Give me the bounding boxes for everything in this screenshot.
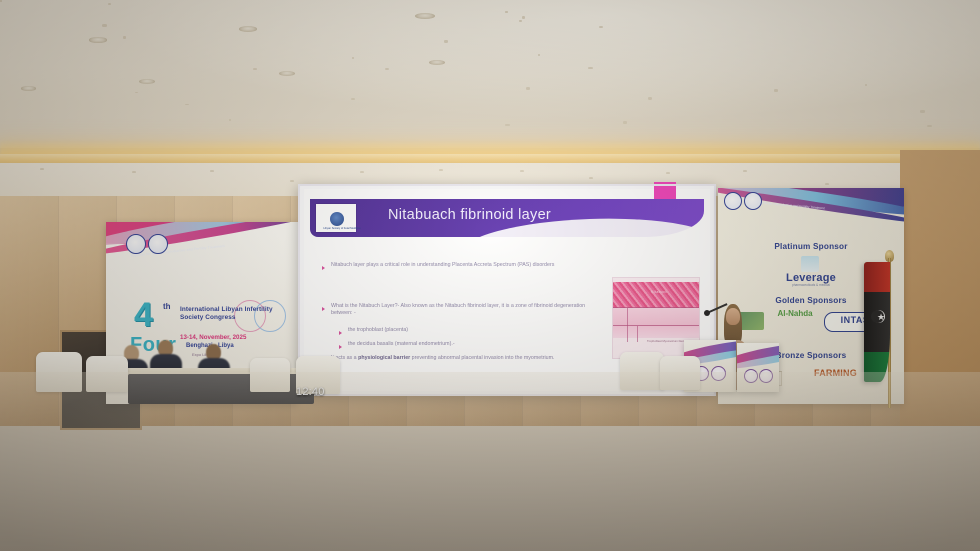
banner-edition-number: 4 — [134, 300, 153, 330]
society-emblem-icon — [744, 192, 762, 210]
society-emblem-icon — [724, 192, 742, 210]
slide-logo-box: Libyan Society of Fetal Medicine — [316, 204, 356, 232]
triangle-bullet-icon — [339, 331, 342, 335]
slide-bullet-3: the trophoblast (placenta) — [348, 327, 588, 334]
ceiling-speck — [505, 11, 508, 13]
podium-speaker-head — [726, 308, 740, 325]
soffit-light — [290, 180, 294, 182]
histology-lower-band — [613, 308, 699, 326]
soffit-light — [210, 170, 214, 172]
banner-congress-title: International Libyan Infertility Society… — [180, 306, 292, 322]
ceiling-speck — [505, 124, 510, 126]
ceiling-speck — [920, 110, 925, 112]
soffit-light — [439, 169, 443, 171]
slide-bullet-5: It acts as a physiological barrier preve… — [331, 355, 599, 362]
leverage-logo-mark — [801, 256, 819, 272]
flag-star-icon: ★ — [877, 313, 885, 322]
ceiling-vent — [239, 26, 257, 32]
histology-leader-line — [637, 326, 638, 342]
histology-leader-line — [627, 308, 628, 342]
slide-bullet-5-post: preventing abnormal placental invasion i… — [410, 355, 554, 361]
triangle-bullet-icon — [339, 345, 342, 349]
ceiling-vent — [21, 86, 36, 91]
sponsor-tier-platinum-heading: Platinum Sponsor — [718, 242, 904, 251]
slide-bullet-2: What is the Nitabuch Layer?- Also known … — [331, 303, 599, 317]
ceiling-speck — [351, 98, 355, 101]
timestamp-overlay: 12:40 — [296, 386, 325, 398]
ceiling-vent — [415, 13, 434, 19]
ceiling-speck — [538, 54, 540, 56]
ceiling-speck — [185, 104, 188, 106]
audience — [0, 372, 980, 551]
triangle-bullet-icon — [322, 307, 325, 311]
histology-divider — [613, 325, 699, 326]
banner-congress-date: 13-14, November, 2025 — [180, 334, 246, 341]
histology-labels: Trophoblast Myometrium Decidua — [647, 340, 689, 343]
slide-header: Libyan Society of Fetal Medicine Nitabua… — [310, 199, 704, 237]
flag-stripe-red — [864, 262, 890, 292]
triangle-bullet-icon — [322, 266, 325, 270]
ceiling-vent — [279, 71, 295, 76]
ceiling-speck — [352, 57, 354, 59]
microphone-head — [704, 310, 710, 316]
ceiling-speck — [526, 87, 530, 90]
ceiling-speck — [135, 92, 138, 94]
soffit-light — [743, 170, 747, 172]
libya-flag-icon: ★ — [864, 262, 890, 382]
society-emblem-icon — [148, 234, 168, 254]
soffit-light — [40, 168, 44, 170]
society-emblem-icon — [126, 234, 146, 254]
ceiling-speck — [123, 36, 125, 39]
ceiling-speck — [648, 97, 652, 100]
histology-divider — [613, 307, 699, 308]
ceiling-speck — [774, 89, 778, 92]
ceiling-speck — [519, 20, 522, 22]
golden-sponsor-logo-2: Al-Nahda — [774, 310, 816, 318]
histology-caption: Nitabuch — [651, 290, 668, 294]
audience-lighting — [0, 372, 980, 551]
ceiling-speck — [253, 68, 258, 70]
ceiling-speck — [108, 3, 111, 5]
soffit-light — [666, 172, 670, 174]
banner-edition-ordinal: th — [163, 302, 171, 311]
slide-bullet-5-bold: physiological barrier — [358, 355, 410, 361]
ceiling-speck — [102, 24, 107, 27]
slide-title: Nitabuach fibrinoid layer — [388, 207, 551, 223]
soffit-light — [589, 177, 593, 179]
ceiling-speck — [444, 40, 448, 43]
histology-base-band — [613, 326, 699, 338]
slide-bullet-1: Nitabuch layer plays a critical role in … — [331, 262, 593, 269]
ceiling-light-sheen — [0, 0, 980, 148]
society-emblem-icon — [330, 212, 344, 226]
conference-hall-photo: Together for Better Reproductive and Fer… — [0, 0, 980, 551]
histology-tissue-band — [613, 282, 699, 308]
slide-logo-caption: Libyan Society of Fetal Medicine — [323, 227, 361, 230]
soffit-light — [132, 171, 136, 173]
ceiling-speck — [0, 0, 2, 2]
ceiling-vent — [89, 37, 106, 42]
soffit-light — [520, 170, 524, 172]
slide-bullet-4: the decidua basalis (maternal endometriu… — [348, 341, 588, 348]
